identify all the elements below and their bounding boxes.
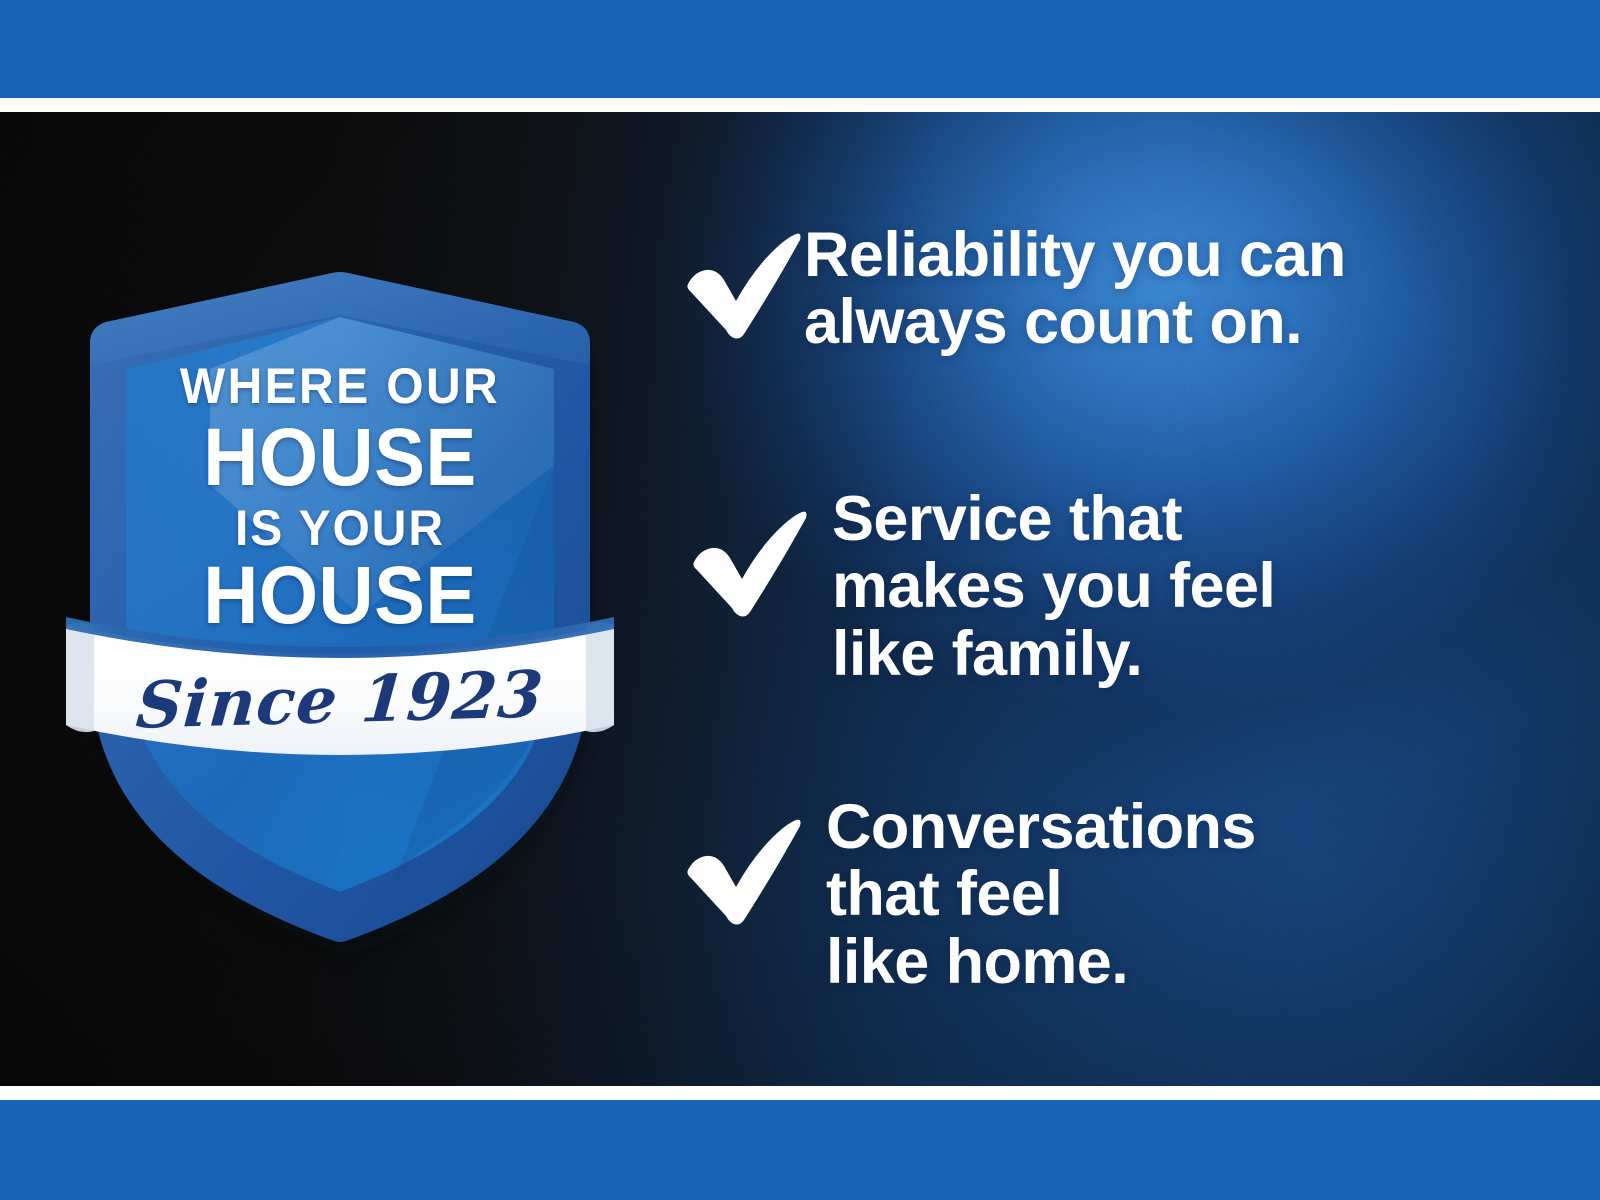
badge-line-2: House <box>80 417 601 499</box>
list-item: Reliability you can always count on. <box>672 220 1346 357</box>
list-item-label: Conversations that feel like home. <box>826 792 1256 996</box>
checkmark-icon <box>672 814 804 926</box>
benefits-list: Reliability you can always count on. Ser… <box>672 112 1572 1086</box>
list-item: Conversations that feel like home. <box>672 792 1256 996</box>
badge-line-3: Is Your <box>71 503 609 553</box>
badge-line-4: House <box>80 555 601 637</box>
checkmark-icon <box>672 228 804 340</box>
bottom-white-divider <box>0 1086 1600 1100</box>
checkmark-icon <box>678 506 810 618</box>
badge-line-1: Where Our <box>71 361 609 411</box>
top-brand-bar <box>0 0 1600 98</box>
badge-since-year: Since 1923 <box>57 655 623 746</box>
top-white-divider <box>0 98 1600 112</box>
shield-badge: Where Our House Is Your House Since 1923 <box>60 165 620 955</box>
list-item-label: Reliability you can always count on. <box>804 220 1346 357</box>
list-item: Service that makes you feel like family. <box>678 484 1275 688</box>
bottom-brand-bar <box>0 1100 1600 1200</box>
list-item-label: Service that makes you feel like family. <box>832 484 1275 688</box>
